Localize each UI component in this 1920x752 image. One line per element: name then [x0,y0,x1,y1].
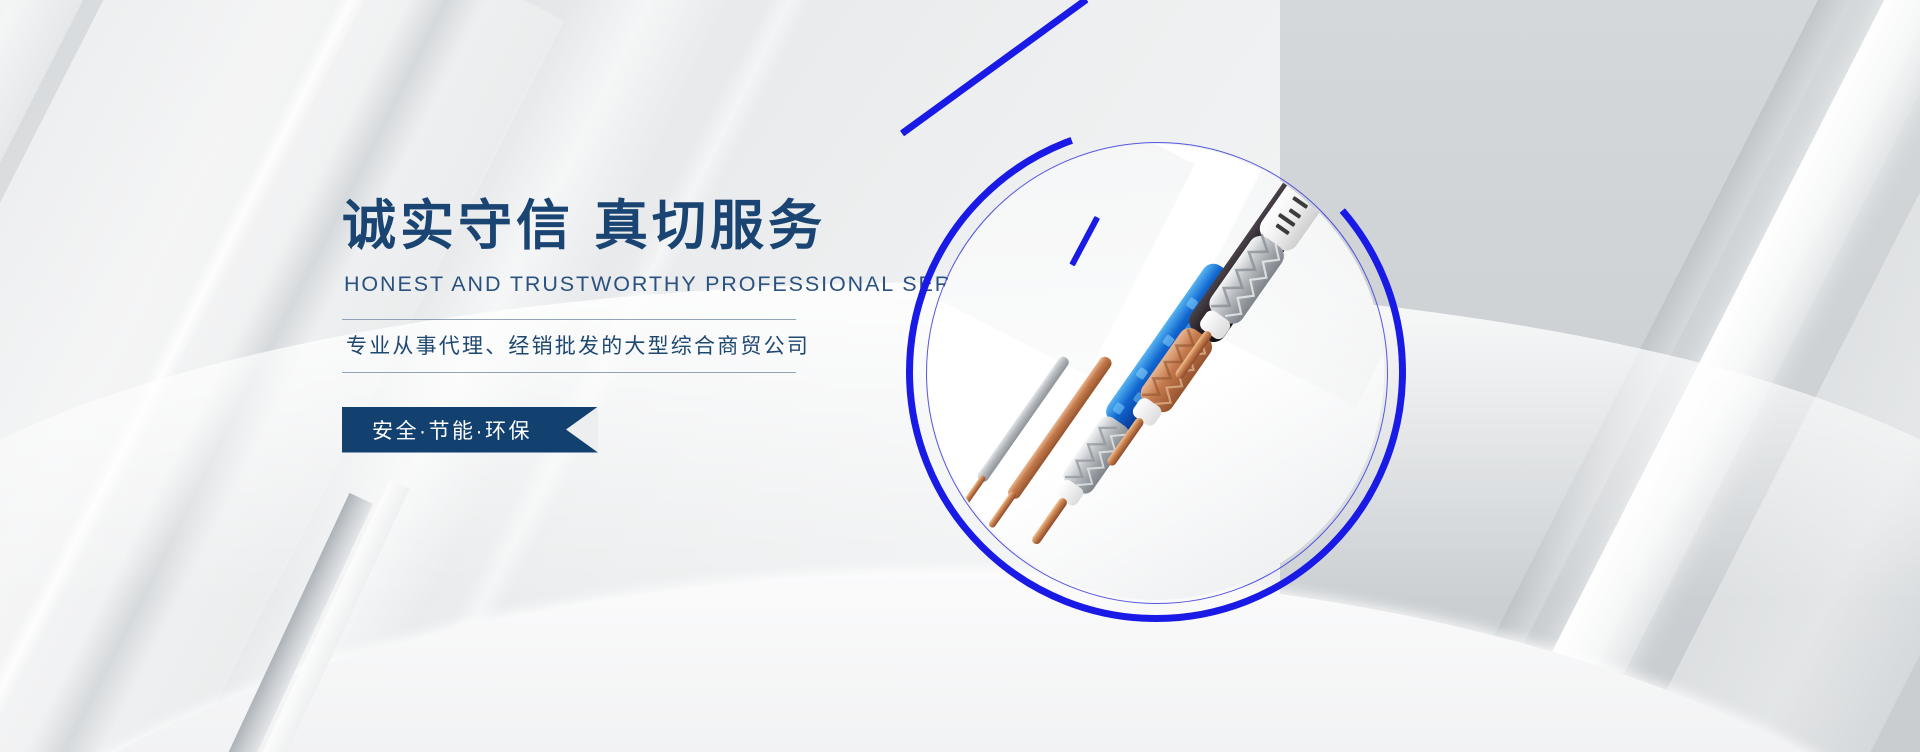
banner-copy-block: 诚实守信真切服务 HONEST AND TRUSTWORTHY PROFESSI… [342,196,862,453]
product-medallion[interactable] [906,122,1406,622]
divider-bottom [342,372,796,373]
headline-phrase-2: 真切服务 [594,196,826,256]
hero-banner: 诚实守信真切服务 HONEST AND TRUSTWORTHY PROFESSI… [0,0,1920,752]
subtitle-english: HONEST AND TRUSTWORTHY PROFESSIONAL SERV… [344,272,862,297]
divider-top [342,319,796,320]
page-title: 诚实守信真切服务 [342,196,862,258]
headline-phrase-1: 诚实守信 [342,196,574,256]
feature-ribbon-label: 安全·节能·环保 [342,415,532,445]
feature-ribbon[interactable]: 安全·节能·环保 [342,407,598,453]
tagline-text: 专业从事代理、经销批发的大型综合商贸公司 [342,320,862,372]
